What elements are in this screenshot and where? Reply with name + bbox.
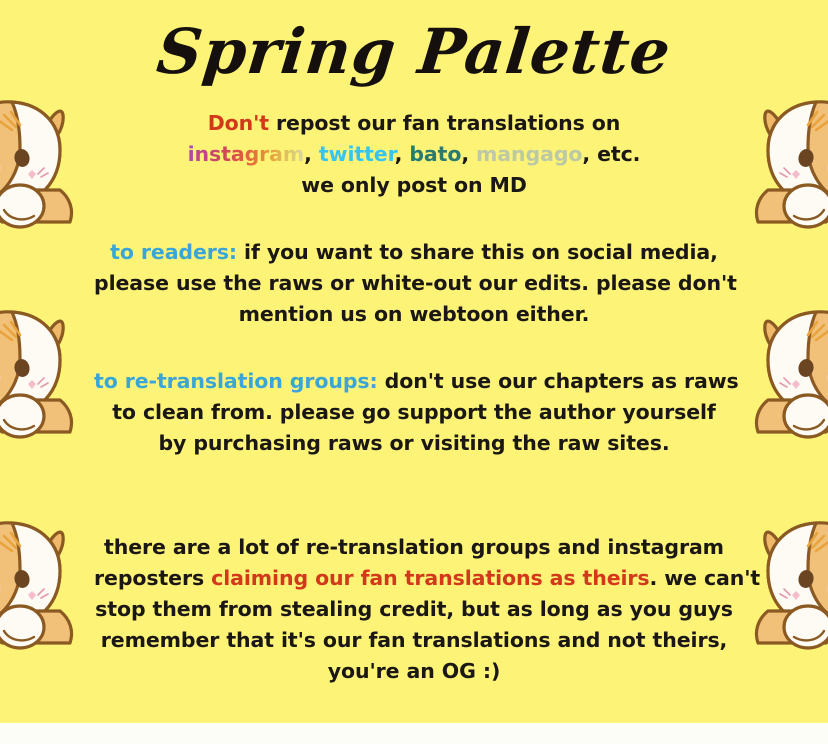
- paragraph-closing: there are a lot of re-translation groups…: [94, 532, 734, 687]
- intro-line-3: we only post on MD: [94, 170, 734, 201]
- instagram-label: instagram: [188, 142, 305, 166]
- closing-line-2-post: . we can't: [650, 566, 761, 590]
- readers-line-3: mention us on webtoon either.: [94, 299, 734, 330]
- paragraph-to-readers: to readers: if you want to share this on…: [94, 237, 734, 330]
- closing-line-5: you're an OG :): [94, 656, 734, 687]
- readers-line-1: to readers: if you want to share this on…: [94, 237, 734, 268]
- sep-3: ,: [461, 142, 476, 166]
- to-groups-label: to re-translation groups:: [94, 369, 378, 393]
- intro-line-1: Don't repost our fan translations on: [94, 108, 734, 139]
- closing-line-2: reposters claiming our fan translations …: [94, 563, 734, 594]
- bato-label: bato: [409, 142, 461, 166]
- bottom-white-strip: [0, 723, 828, 744]
- intro-line-2-sites: instagram, twitter, bato, mangago, etc.: [94, 139, 734, 170]
- to-readers-label: to readers:: [110, 240, 237, 264]
- sep-1: ,: [304, 142, 319, 166]
- closing-line-3: stop them from stealing credit, but as l…: [94, 594, 734, 625]
- mangago-label: mangago: [476, 142, 582, 166]
- paragraph-intro: Don't repost our fan translations on ins…: [94, 108, 734, 201]
- intro-line-1-rest: repost our fan translations on: [269, 111, 620, 135]
- page-title: Spring Palette: [0, 14, 828, 90]
- dont-emphasis: Don't: [208, 111, 269, 135]
- sep-4: , etc.: [582, 142, 640, 166]
- notice-content: Don't repost our fan translations on ins…: [0, 108, 828, 687]
- groups-line-1: to re-translation groups: don't use our …: [94, 366, 734, 397]
- sep-2: ,: [395, 142, 410, 166]
- claiming-emphasis: claiming our fan translations as theirs: [211, 566, 649, 590]
- closing-line-1: there are a lot of re-translation groups…: [94, 532, 734, 563]
- spring-palette-notice-image: Spring Palette Don't repost our fan tran…: [0, 0, 828, 744]
- paragraph-to-retranslation-groups: to re-translation groups: don't use our …: [94, 366, 734, 459]
- closing-line-4: remember that it's our fan translations …: [94, 625, 734, 656]
- readers-line-2: please use the raws or white-out our edi…: [94, 268, 734, 299]
- groups-line-1-rest: don't use our chapters as raws: [378, 369, 739, 393]
- closing-line-2-pre: reposters: [94, 566, 211, 590]
- groups-line-2: to clean from. please go support the aut…: [94, 397, 734, 428]
- groups-line-3: by purchasing raws or visiting the raw s…: [94, 428, 734, 459]
- twitter-label: twitter: [319, 142, 395, 166]
- readers-line-1-rest: if you want to share this on social medi…: [237, 240, 718, 264]
